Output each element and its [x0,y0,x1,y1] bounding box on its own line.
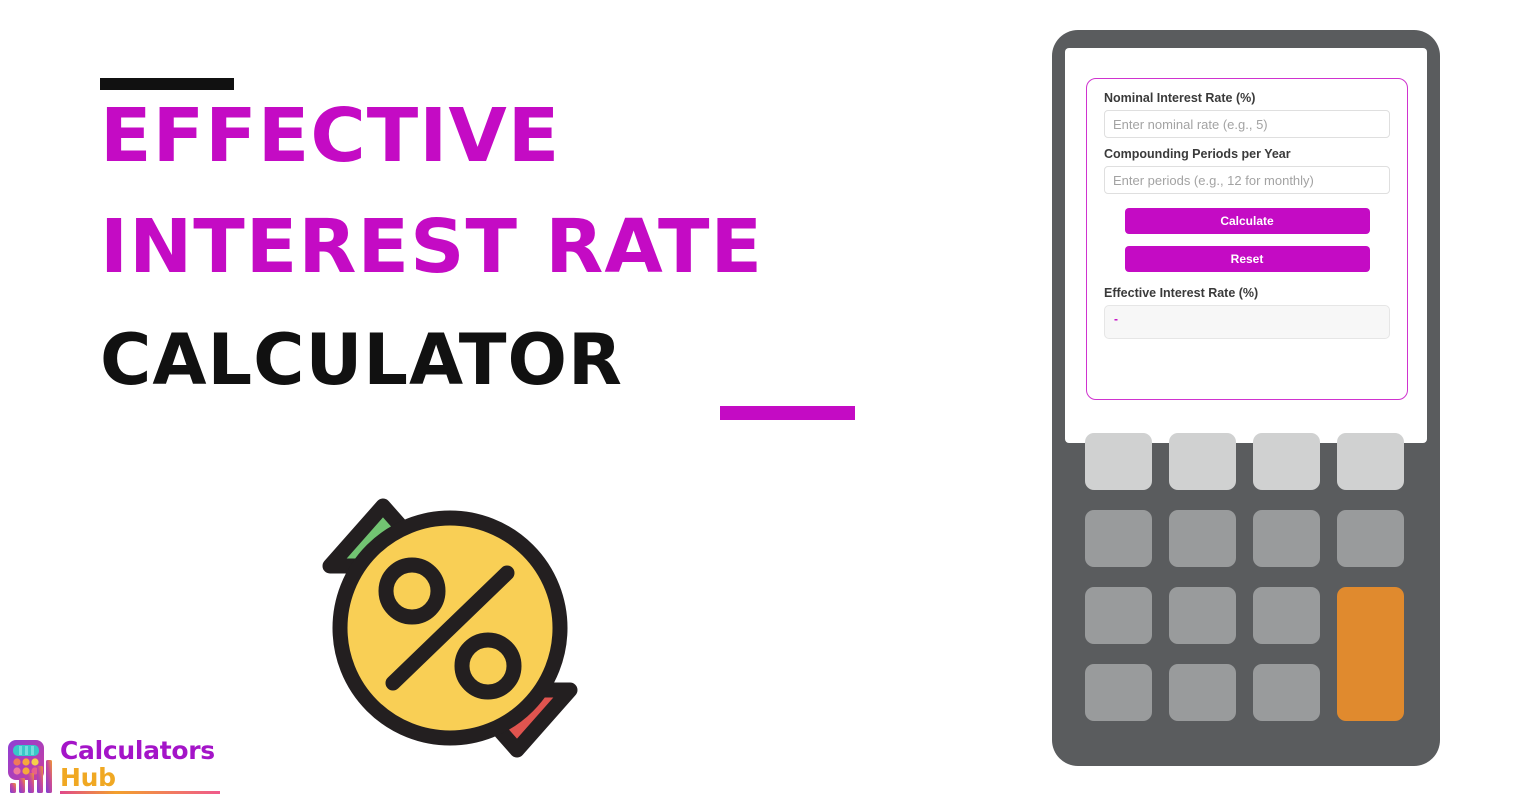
keypad-key-r2c1[interactable] [1085,510,1152,567]
compounding-periods-input[interactable] [1104,166,1390,194]
keypad-key-r4c2[interactable] [1169,664,1236,721]
calculate-button[interactable]: Calculate [1125,208,1370,234]
percent-up-down-illustration [255,478,645,778]
calculator-device: Nominal Interest Rate (%) Compounding Pe… [1052,30,1440,766]
keypad-key-r3c3[interactable] [1253,587,1320,644]
keypad-key-r4c1[interactable] [1085,664,1152,721]
keypad-key-r1c3[interactable] [1253,433,1320,490]
title-bottom-rule [720,406,855,420]
keypad-key-equals[interactable] [1337,587,1404,721]
brand-word-calculators: Calculators [60,737,230,764]
keypad-key-r2c2[interactable] [1169,510,1236,567]
keypad-key-r1c4[interactable] [1337,433,1404,490]
compounding-periods-label: Compounding Periods per Year [1104,147,1390,162]
calculator-keypad [1085,433,1407,728]
page-title-line-1: EFFECTIVE [100,99,560,173]
calculator-screen: Nominal Interest Rate (%) Compounding Pe… [1065,48,1427,443]
keypad-key-r4c3[interactable] [1253,664,1320,721]
keypad-key-r3c1[interactable] [1085,587,1152,644]
brand-logo-wordmark: Calculators Hub [60,737,230,791]
title-top-rule [100,78,234,90]
keypad-key-r3c2[interactable] [1169,587,1236,644]
page-title-line-3: CALCULATOR [100,325,623,395]
keypad-key-r1c2[interactable] [1169,433,1236,490]
nominal-rate-label: Nominal Interest Rate (%) [1104,91,1390,106]
reset-button[interactable]: Reset [1125,246,1370,272]
calculator-form-card: Nominal Interest Rate (%) Compounding Pe… [1086,78,1408,400]
calculator-chart-logo-icon [4,738,58,794]
hero-panel: EFFECTIVE INTEREST RATE CALCULATOR [0,0,1020,800]
keypad-key-r1c1[interactable] [1085,433,1152,490]
nominal-rate-input[interactable] [1104,110,1390,138]
keypad-key-r2c4[interactable] [1337,510,1404,567]
keypad-key-r2c3[interactable] [1253,510,1320,567]
effective-rate-label: Effective Interest Rate (%) [1104,286,1390,301]
brand-logo[interactable]: Calculators Hub [4,738,224,796]
page-title-line-2: INTEREST RATE [100,210,763,284]
brand-logo-underline [60,791,220,794]
brand-word-hub: Hub [60,764,230,791]
effective-rate-result: - [1104,305,1390,339]
